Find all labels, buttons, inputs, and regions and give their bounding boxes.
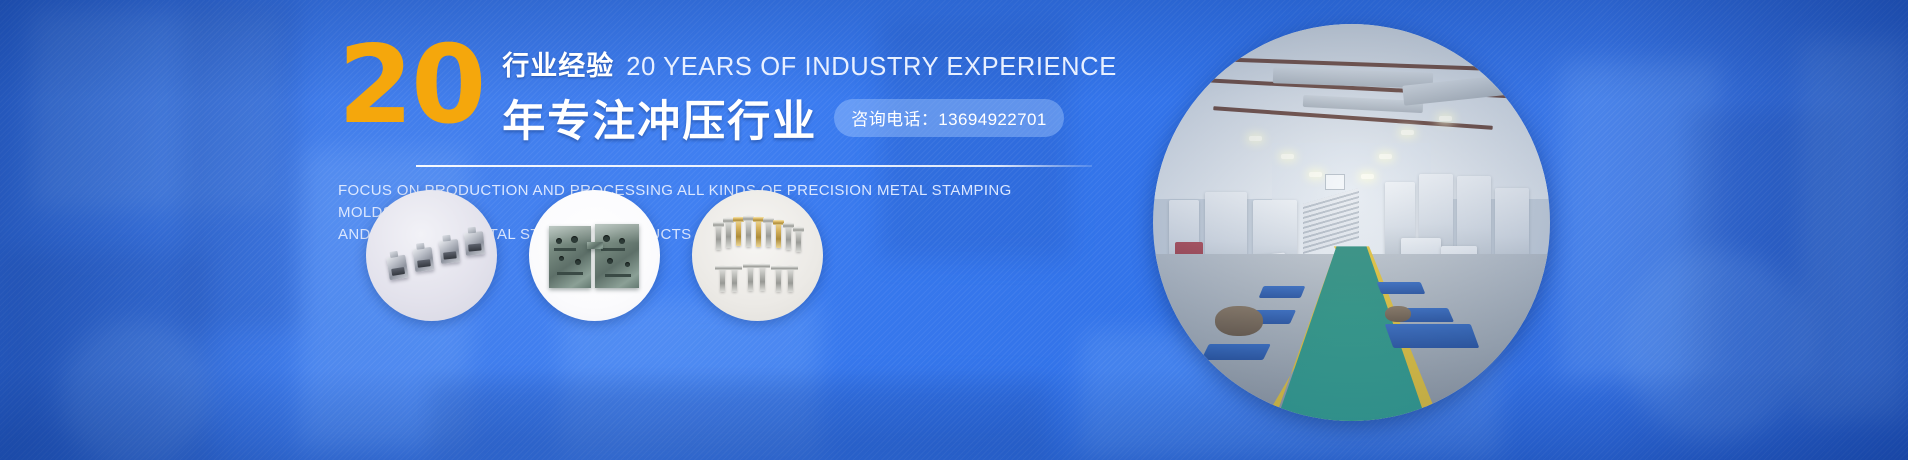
product-image-precision-stamping-die-mold[interactable] [529,190,660,321]
years-number: 20 [338,36,484,135]
product-thumbnails [366,190,823,321]
headline-cn-label: 行业经验 [502,44,614,83]
headline-divider [416,165,1092,167]
headline-en-label: 20 YEARS OF INDUSTRY EXPERIENCE [626,53,1117,82]
headline-top-line: 行业经验 20 YEARS OF INDUSTRY EXPERIENCE [502,44,1117,83]
company-hero-banner: 20 行业经验 20 YEARS OF INDUSTRY EXPERIENCE … [0,0,1908,460]
product-image-metal-stamped-usb-connectors[interactable] [366,190,497,321]
headline-text: 行业经验 20 YEARS OF INDUSTRY EXPERIENCE 年专注… [502,34,1117,149]
factory-photo-overlay [1153,24,1550,421]
headline-main-line: 年专注冲压行业 咨询电话：13694922701 [502,87,1117,149]
phone-badge[interactable]: 咨询电话：13694922701 [834,99,1063,137]
headline-cn-main: 年专注冲压行业 [502,87,817,149]
factory-photo[interactable] [1153,24,1550,421]
product-image-metal-terminal-pins[interactable] [692,190,823,321]
headline-row: 20 行业经验 20 YEARS OF INDUSTRY EXPERIENCE … [338,34,1118,149]
